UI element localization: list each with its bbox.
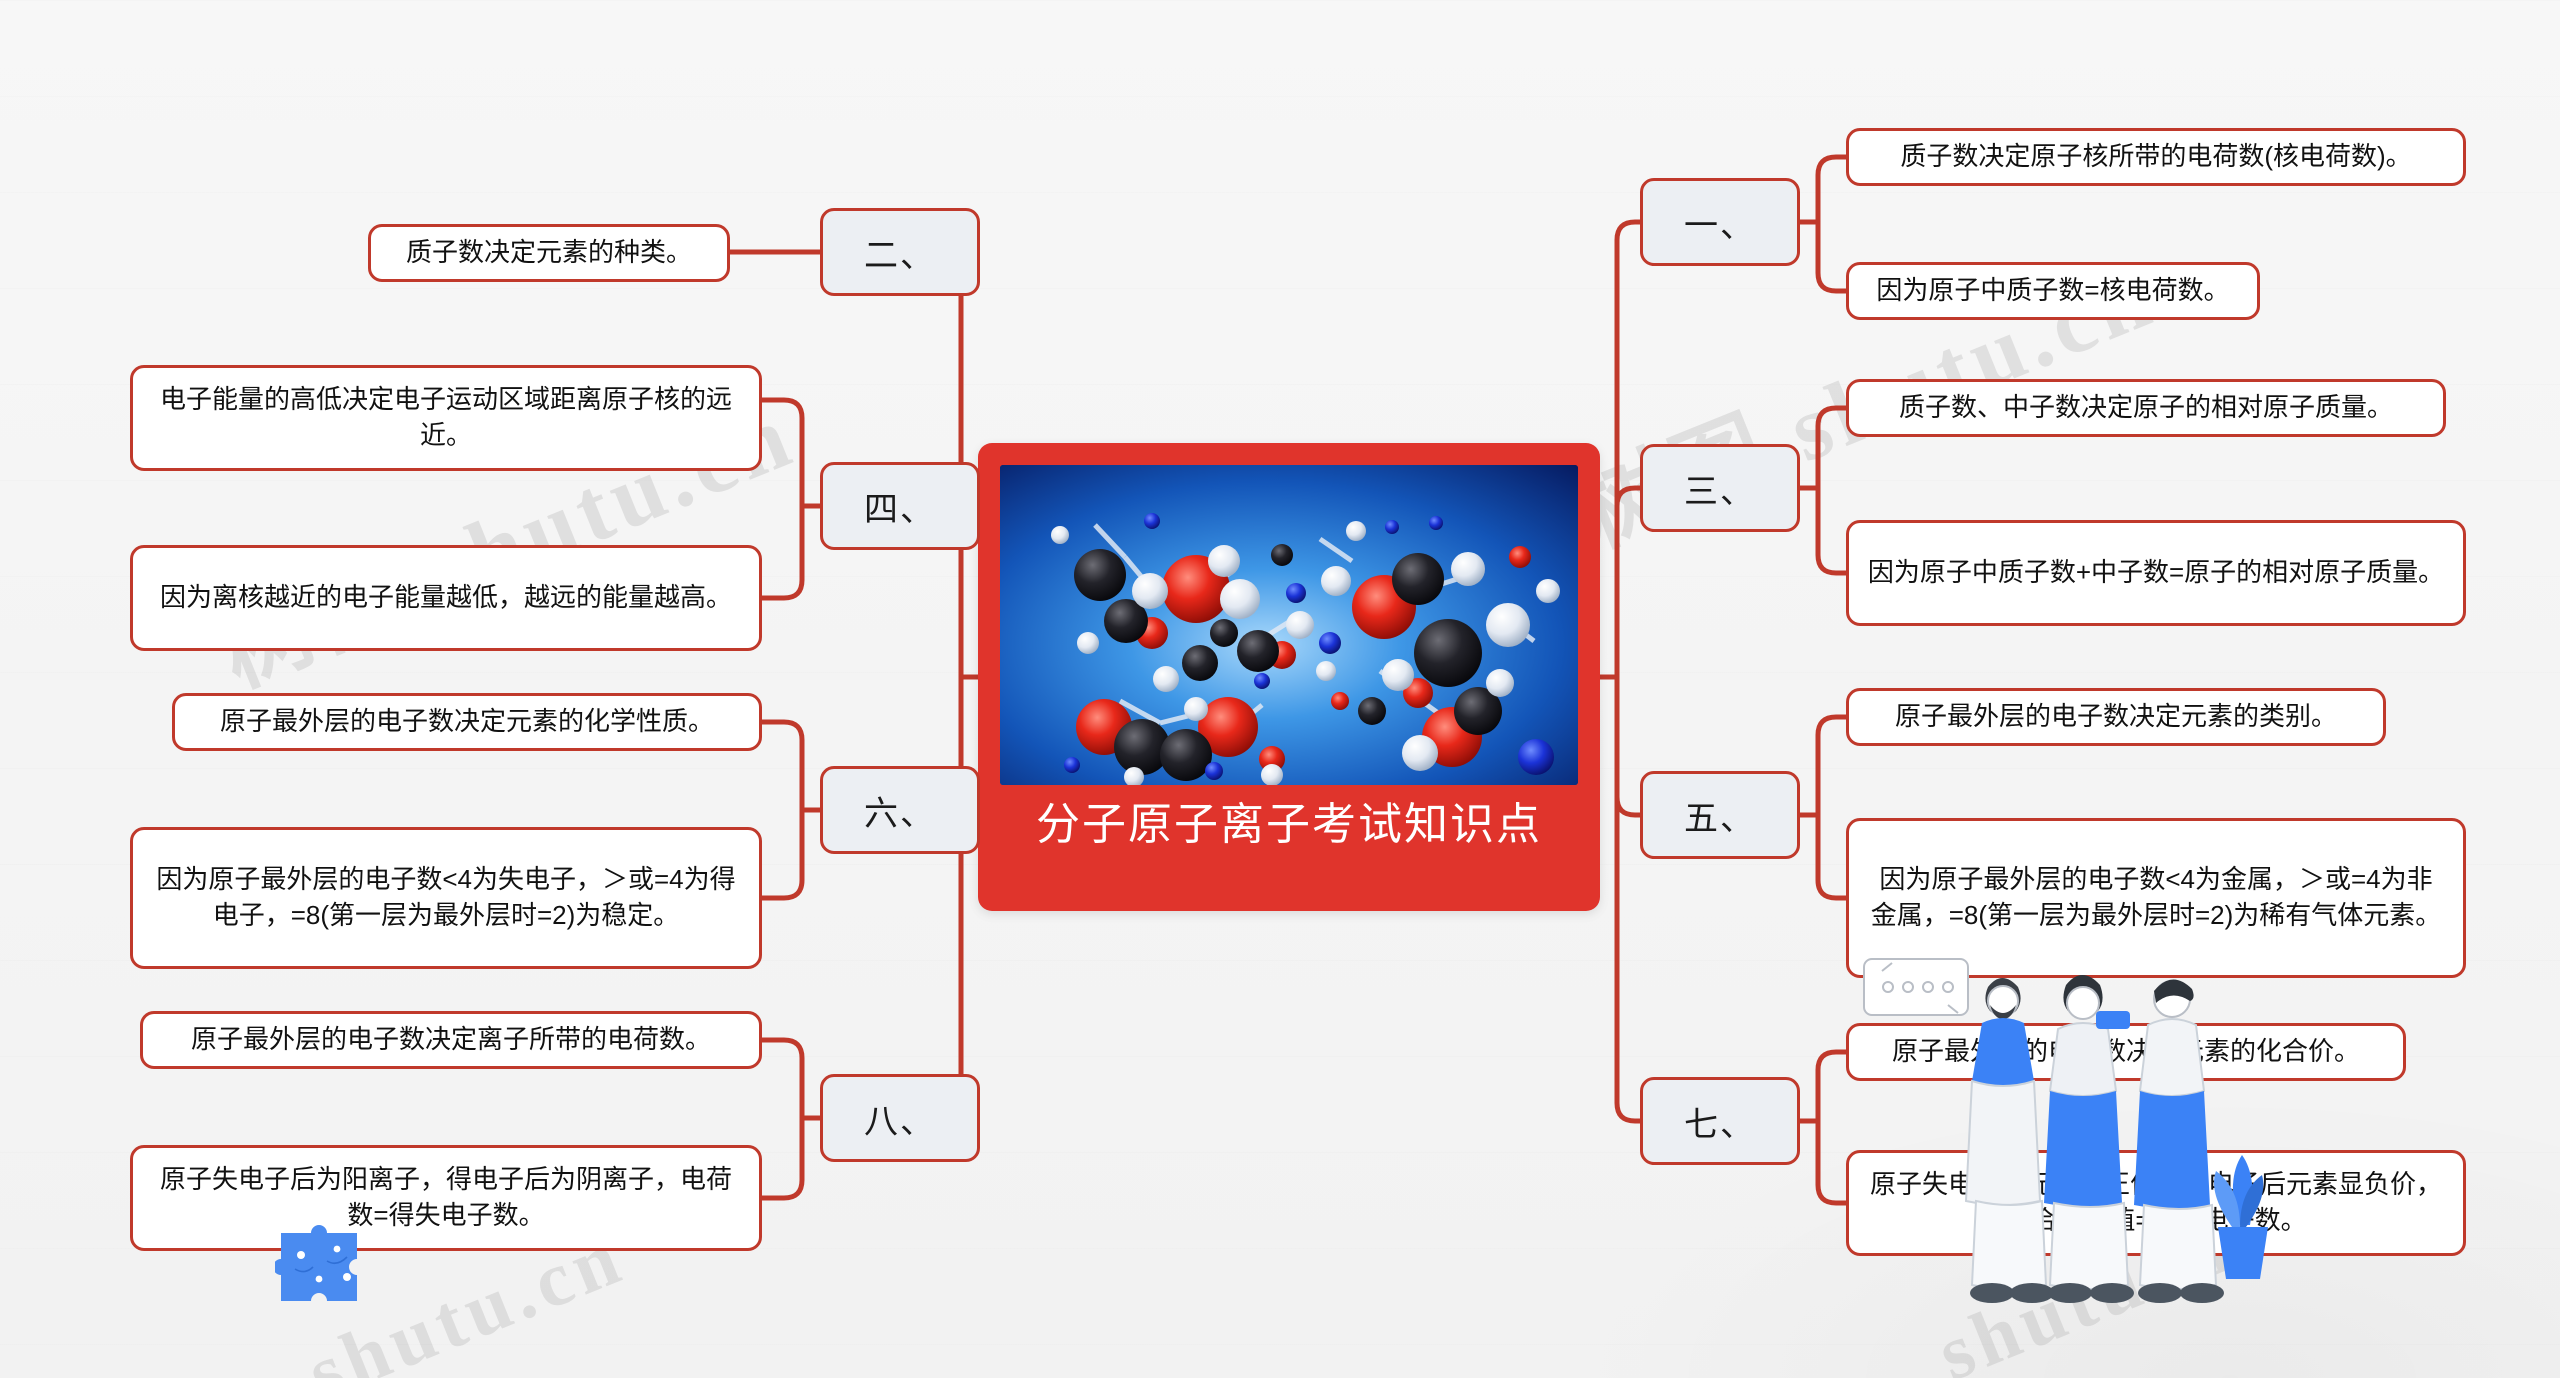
branch-node-5[interactable]: 五、 — [1640, 771, 1800, 859]
branch-node-7[interactable]: 七、 — [1640, 1077, 1800, 1165]
molecular-structure-image — [1000, 465, 1578, 785]
leaf-node[interactable]: 原子最外层的电子数决定元素的化学性质。 — [172, 693, 762, 751]
branch-node-4[interactable]: 四、 — [820, 462, 980, 550]
mindmap-canvas: 树图 shutu.cn 树图 shutu.cn shutu.cn shutu.c… — [0, 0, 2560, 1378]
people-illustration — [1860, 955, 2280, 1335]
leaf-node[interactable]: 因为离核越近的电子能量越低，越远的能量越高。 — [130, 545, 762, 651]
leaf-node[interactable]: 原子最外层的电子数决定元素的类别。 — [1846, 688, 2386, 746]
leaf-node[interactable]: 质子数决定元素的种类。 — [368, 224, 730, 282]
leaf-node[interactable]: 质子数、中子数决定原子的相对原子质量。 — [1846, 379, 2446, 437]
branch-node-2[interactable]: 二、 — [820, 208, 980, 296]
leaf-node[interactable]: 原子失电子后为阳离子，得电子后为阴离子，电荷数=得失电子数。 — [130, 1145, 762, 1251]
leaf-node[interactable]: 电子能量的高低决定电子运动区域距离原子核的远近。 — [130, 365, 762, 471]
leaf-node[interactable]: 原子最外层的电子数决定元素的化合价。 — [1846, 1023, 2406, 1081]
root-node[interactable]: 分子原子离子考试知识点 — [978, 443, 1600, 911]
leaf-node[interactable]: 原子最外层的电子数决定离子所带的电荷数。 — [140, 1011, 762, 1069]
leaf-node[interactable]: 因为原子最外层的电子数<4为金属，＞或=4为非金属，=8(第一层为最外层时=2)… — [1846, 818, 2466, 978]
leaf-node[interactable]: 因为原子中质子数=核电荷数。 — [1846, 262, 2260, 320]
branch-node-6[interactable]: 六、 — [820, 766, 980, 854]
root-title: 分子原子离子考试知识点 — [1036, 801, 1542, 849]
branch-node-8[interactable]: 八、 — [820, 1074, 980, 1162]
leaf-node[interactable]: 因为原子最外层的电子数<4为失电子，＞或=4为得电子，=8(第一层为最外层时=2… — [130, 827, 762, 969]
leaf-node[interactable]: 因为原子中质子数+中子数=原子的相对原子质量。 — [1846, 520, 2466, 626]
leaf-node[interactable]: 质子数决定原子核所带的电荷数(核电荷数)。 — [1846, 128, 2466, 186]
leaf-node[interactable]: 原子失电子后元素显正价，得电子后元素显负价，化合价数值=得失电子数。 — [1846, 1150, 2466, 1256]
branch-node-1[interactable]: 一、 — [1640, 178, 1800, 266]
branch-node-3[interactable]: 三、 — [1640, 444, 1800, 532]
